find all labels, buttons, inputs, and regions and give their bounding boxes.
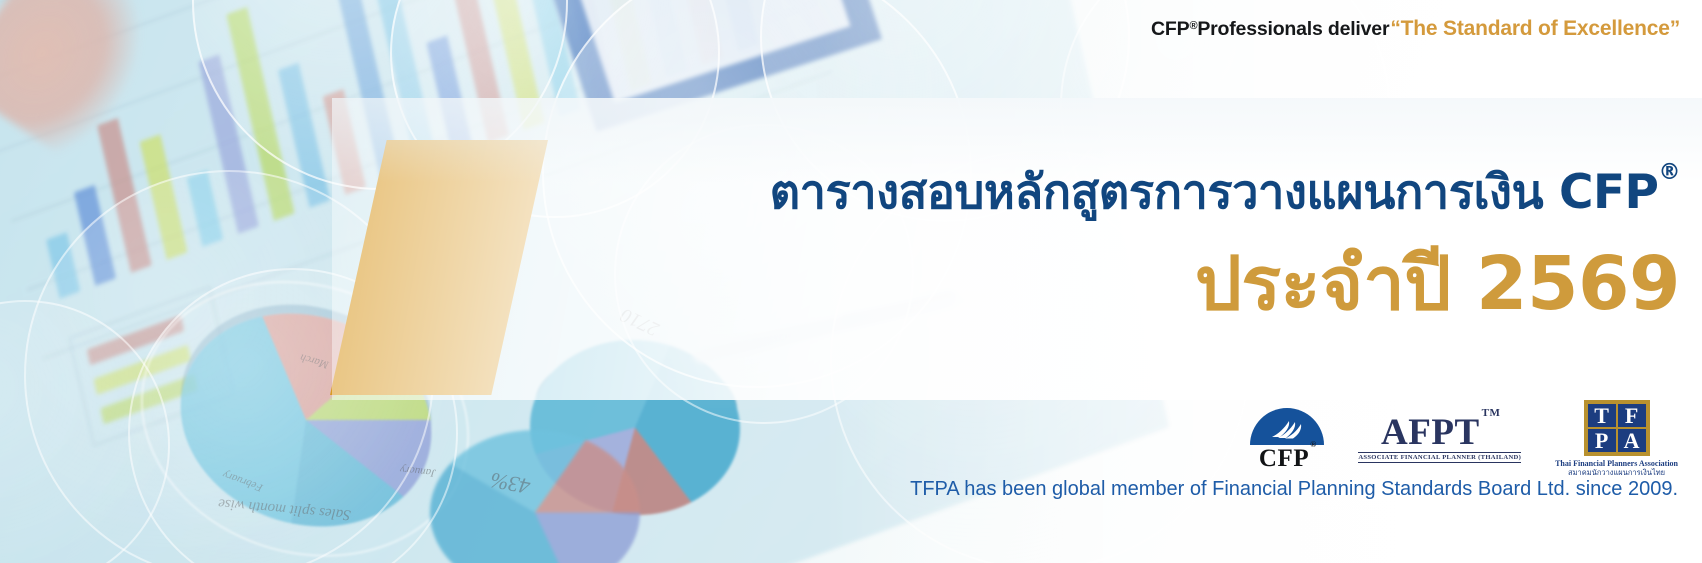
tfpa-letter-a: A [1618, 429, 1646, 452]
cfp-registered-mark: ® [1310, 440, 1317, 449]
tagline-registered-mark: ® [1189, 20, 1197, 32]
page-title: ตารางสอบหลักสูตรการวางแผนการเงิน CFP® [0, 168, 1680, 218]
afpt-subtitle: ASSOCIATE FINANCIAL PLANNER (THAILAND) [1358, 452, 1521, 463]
tagline-middle: Professionals deliver [1197, 18, 1389, 41]
cfp-exam-schedule-banner: Sales split month wise March February Ja… [0, 0, 1702, 563]
tfpa-english-name: Thai Financial Planners Association [1555, 459, 1678, 468]
cfp-wordmark-text: CFP [1259, 445, 1309, 472]
tfpa-logo: T F P A Thai Financial Planners Associat… [1555, 400, 1678, 479]
background-3d-pie-bottom-top [430, 430, 640, 563]
tfpa-thai-name: สมาคมนักวางแผนการเงินไทย [1555, 468, 1678, 479]
tfpa-letter-p: P [1588, 429, 1616, 452]
page-subtitle-year: ประจำปี 2569 [0, 247, 1680, 321]
tfpa-letter-grid: T F P A [1584, 400, 1650, 456]
tfpa-letter-t: T [1588, 404, 1616, 427]
page-title-registered-mark: ® [1659, 160, 1681, 185]
logo-row: CFP® AFPTTM ASSOCIATE FINANCIAL PLANNER … [1250, 400, 1678, 479]
afpt-wordmark: AFPTTM [1358, 415, 1521, 450]
page-title-thai: ตารางสอบหลักสูตรการวางแผนการเงิน CFP [770, 165, 1659, 220]
afpt-wordmark-text: AFPT [1381, 412, 1480, 453]
tagline-cfp: CFP [1151, 18, 1189, 41]
tfpa-letter-f: F [1618, 404, 1646, 427]
cfp-logo: CFP® [1250, 408, 1324, 471]
tagline-quote: “The Standard of Excellence” [1390, 17, 1680, 41]
afpt-logo: AFPTTM ASSOCIATE FINANCIAL PLANNER (THAI… [1358, 415, 1521, 463]
tagline: CFP® Professionals deliver“The Standard … [1151, 17, 1680, 41]
footer-note: TFPA has been global member of Financial… [910, 478, 1678, 501]
background-3d-pie-bottom [430, 430, 640, 563]
cfp-flame-icon [1270, 418, 1304, 440]
cfp-wordmark: CFP® [1250, 446, 1324, 471]
afpt-trademark-mark: TM [1482, 407, 1501, 419]
